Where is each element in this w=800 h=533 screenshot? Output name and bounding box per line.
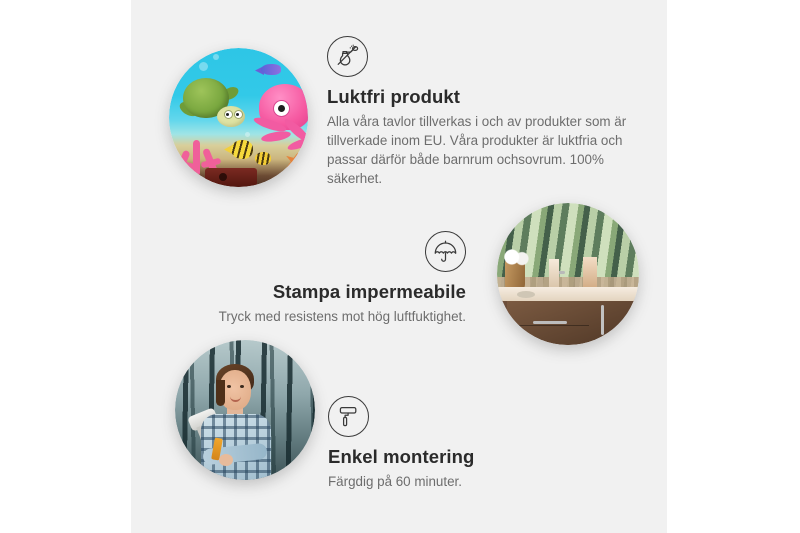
promo-feature-panel: Luktfri produkt Alla våra tavlor tillver…: [0, 0, 800, 533]
no-odour-spray-bottle-icon: [327, 36, 368, 77]
photo-bathroom-wallpaper: [497, 203, 639, 345]
feature-body: Färgdig på 60 minuter.: [328, 472, 628, 491]
photo-woman-painter: [175, 340, 315, 480]
umbrella-icon: [425, 231, 466, 272]
feature-waterproof: Stampa impermeabile Tryck med resistens …: [200, 231, 466, 326]
feature-body: Tryck med resistens mot hög luftfuktighe…: [200, 307, 466, 326]
feature-heading: Luktfri produkt: [327, 86, 627, 107]
feature-odourless: Luktfri produkt Alla våra tavlor tillver…: [327, 36, 627, 188]
feature-heading: Stampa impermeabile: [200, 281, 466, 302]
feature-body: Alla våra tavlor tillverkas i och av pro…: [327, 112, 627, 188]
paint-roller-icon: [328, 396, 369, 437]
feature-heading: Enkel montering: [328, 446, 628, 467]
feature-assembly: Enkel montering Färgdig på 60 minuter.: [328, 396, 628, 491]
photo-underwater-scene: [169, 48, 308, 187]
